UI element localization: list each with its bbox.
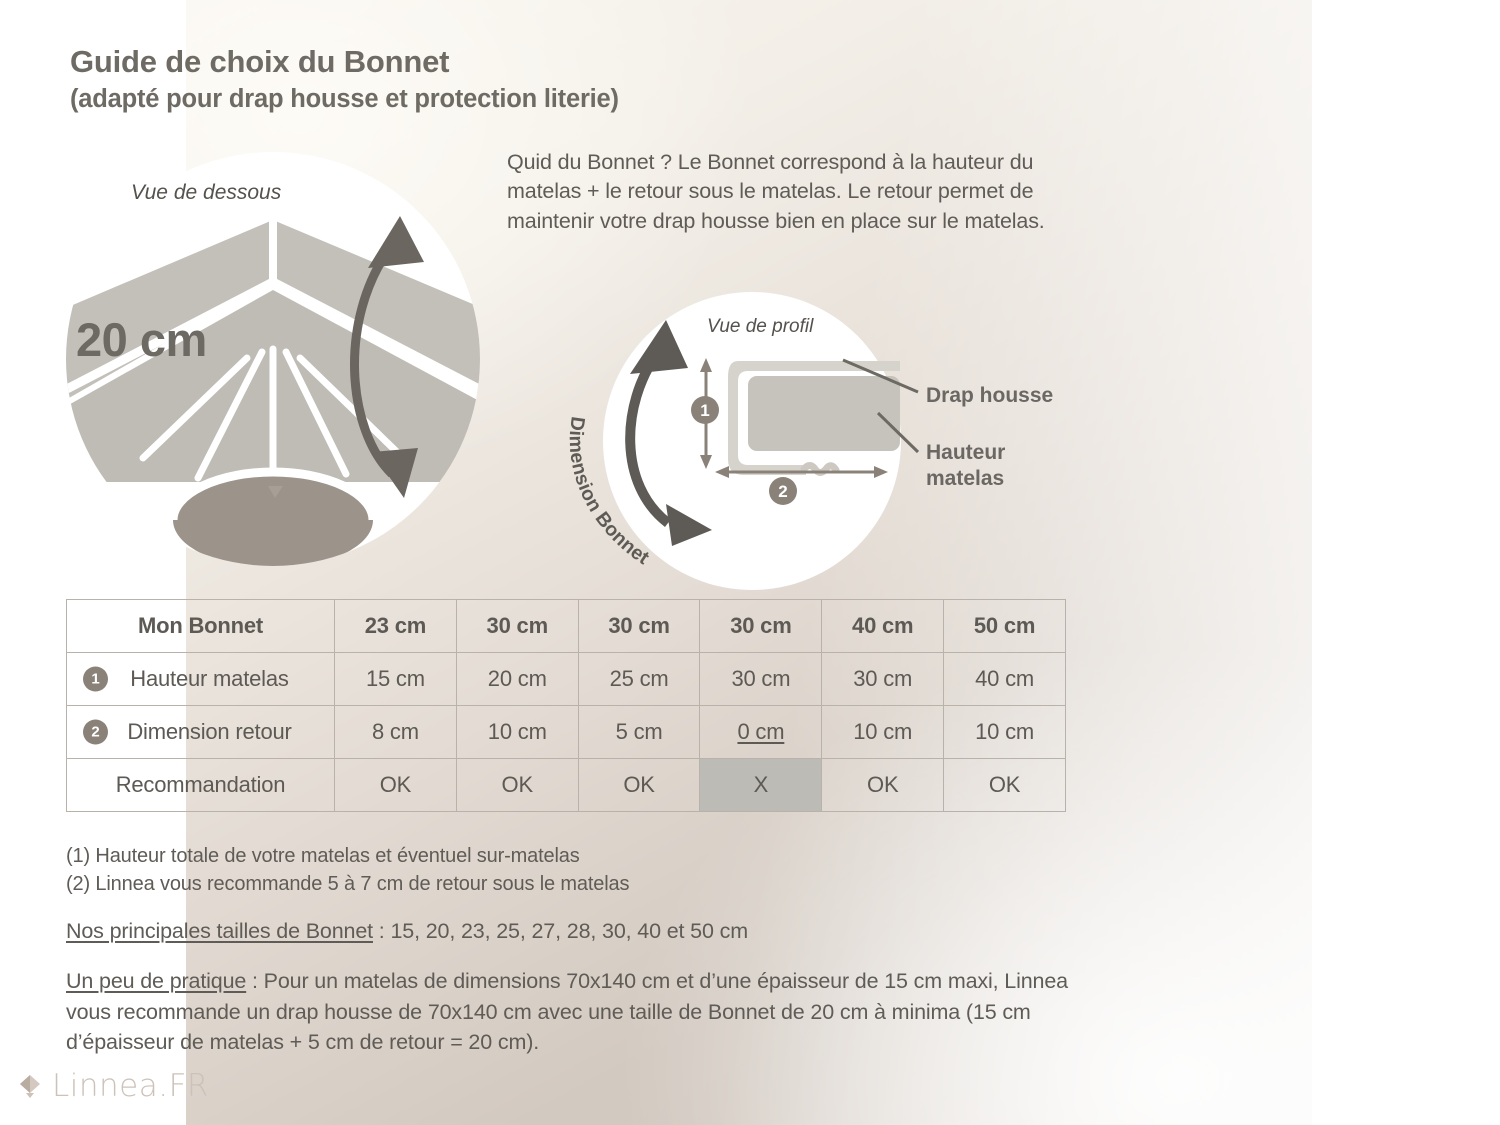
table-row-label-text: Hauteur matelas: [130, 666, 288, 691]
infographic-page: Guide de choix du Bonnet (adapté pour dr…: [0, 0, 1500, 1125]
badge-2-diagram: 2: [769, 477, 797, 505]
table-cell: OK: [456, 759, 578, 812]
callout-hauteur-matelas-line2: matelas: [926, 466, 1005, 492]
table-row-label-mattress-height: 1 Hauteur matelas: [67, 653, 335, 706]
linnea-diamond-icon: [18, 1073, 42, 1099]
callout-drap-housse: Drap housse: [926, 383, 1053, 409]
bonnet-size-table: Mon Bonnet 23 cm 30 cm 30 cm 30 cm 40 cm…: [66, 599, 1066, 812]
profile-view-caption: Vue de profil: [707, 316, 813, 338]
badge-2-table: 2: [83, 720, 108, 745]
table-cell: 30 cm: [578, 600, 700, 653]
dimension-bonnet-text: Dimension Bonnet: [565, 415, 654, 569]
table-cell: OK: [822, 759, 944, 812]
table-cell-text: 0 cm: [737, 719, 784, 744]
table-cell: 15 cm: [335, 653, 457, 706]
linnea-logo-text: Linnea.FR: [52, 1068, 209, 1104]
note-practice: Un peu de pratique : Pour un matelas de …: [66, 966, 1076, 1058]
table-row-header: Mon Bonnet 23 cm 30 cm 30 cm 30 cm 40 cm…: [67, 600, 1066, 653]
note-main-sizes: Nos principales tailles de Bonnet : 15, …: [66, 916, 748, 947]
badge-1-table: 1: [83, 667, 108, 692]
table-row-mattress-height: 1 Hauteur matelas 15 cm 20 cm 25 cm 30 c…: [67, 653, 1066, 706]
table-cell: OK: [578, 759, 700, 812]
table-cell: 10 cm: [456, 706, 578, 759]
table-cell: 8 cm: [335, 706, 457, 759]
table-cell: OK: [944, 759, 1066, 812]
table-cell: 50 cm: [944, 600, 1066, 653]
badge-1-diagram: 1: [691, 396, 719, 424]
footnote-2: (2) Linnea vous recommande 5 à 7 cm de r…: [66, 870, 629, 898]
table-row-label-text: Dimension retour: [127, 719, 291, 744]
table-cell-not-recommended: X: [700, 759, 822, 812]
footnotes-block: (1) Hauteur totale de votre matelas et é…: [66, 842, 629, 899]
table-cell: 40 cm: [944, 653, 1066, 706]
callout-hauteur-matelas-line1: Hauteur: [926, 440, 1005, 466]
table-row-label-return-dimension: 2 Dimension retour: [67, 706, 335, 759]
footnote-1: (1) Hauteur totale de votre matelas et é…: [66, 842, 629, 870]
table-cell: 25 cm: [578, 653, 700, 706]
note-main-sizes-body: : 15, 20, 23, 25, 27, 28, 30, 40 et 50 c…: [373, 919, 748, 943]
table-cell: OK: [335, 759, 457, 812]
table-row-return-dimension: 2 Dimension retour 8 cm 10 cm 5 cm 0 cm …: [67, 706, 1066, 759]
table-cell: 20 cm: [456, 653, 578, 706]
table-cell: 30 cm: [700, 653, 822, 706]
table-row-label-recommendation: Recommandation: [67, 759, 335, 812]
table-cell: 40 cm: [822, 600, 944, 653]
table-row-recommendation: Recommandation OK OK OK X OK OK: [67, 759, 1066, 812]
linnea-logo[interactable]: Linnea.FR: [18, 1068, 209, 1104]
table-header-label: Mon Bonnet: [67, 600, 335, 653]
table-cell: 10 cm: [822, 706, 944, 759]
callout-hauteur-matelas: Hauteur matelas: [926, 440, 1005, 491]
table-cell: 23 cm: [335, 600, 457, 653]
note-practice-heading: Un peu de pratique: [66, 969, 246, 993]
table-cell: 30 cm: [456, 600, 578, 653]
table-cell: 30 cm: [700, 600, 822, 653]
table-cell-zero-retour: 0 cm: [700, 706, 822, 759]
table-cell: 5 cm: [578, 706, 700, 759]
note-main-sizes-heading: Nos principales tailles de Bonnet: [66, 919, 373, 943]
table-cell: 30 cm: [822, 653, 944, 706]
table-cell: 10 cm: [944, 706, 1066, 759]
dimension-bonnet-arc-label: Dimension Bonnet: [555, 400, 795, 600]
